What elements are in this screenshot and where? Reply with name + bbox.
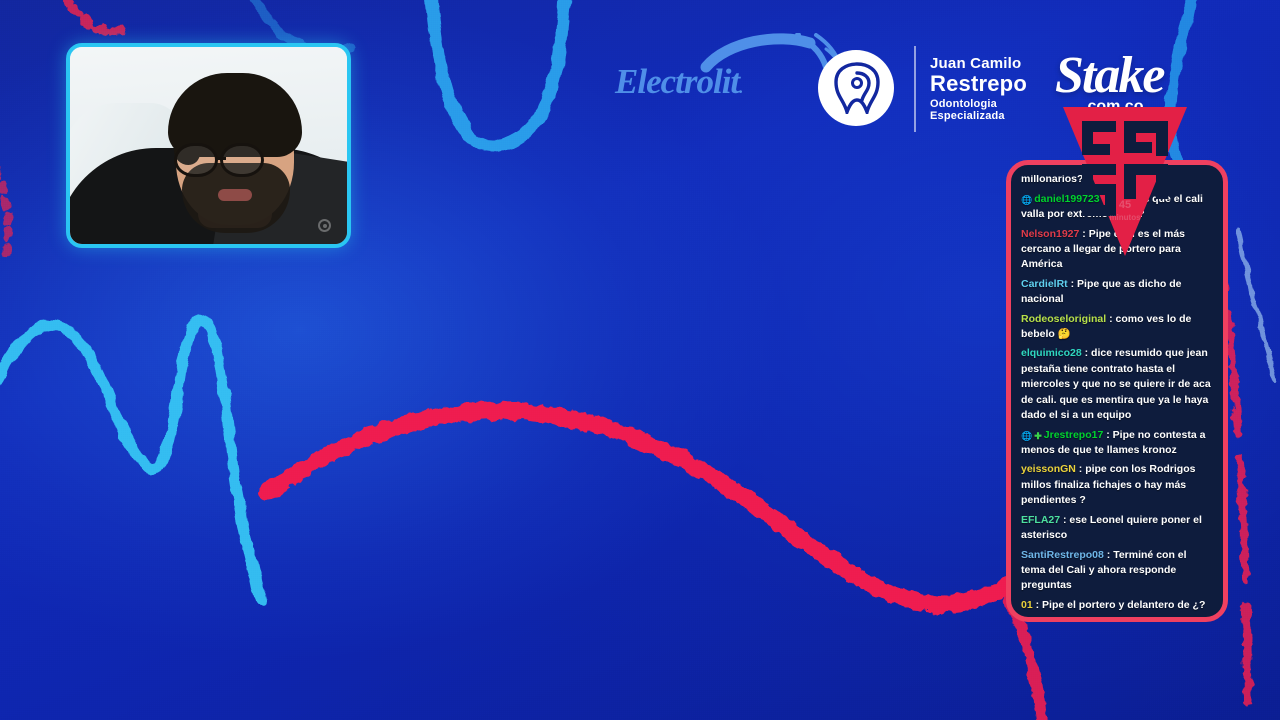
glasses-right-lens xyxy=(220,143,264,177)
chat-username[interactable]: Jrestrepo17 xyxy=(1044,429,1104,441)
streamer-webcam[interactable] xyxy=(66,43,351,248)
dental-line-1: Juan Camilo xyxy=(930,56,1027,72)
dental-clinic-badge xyxy=(818,50,894,126)
chat-message-text: : Pipe el portero y delantero de ¿? xyxy=(1033,599,1206,611)
dental-clinic-name: Juan Camilo Restrepo Odontologia Especia… xyxy=(930,56,1027,122)
chat-username[interactable]: Rodeoseloriginal xyxy=(1021,313,1106,325)
sponsor-divider xyxy=(914,46,916,132)
webcam-scene xyxy=(70,47,347,244)
chat-message: CardielRt : Pipe que as dicho de naciona… xyxy=(1021,277,1213,308)
stake-wordmark: Stake xyxy=(1055,47,1163,104)
chat-username[interactable]: EFLA27 xyxy=(1021,514,1060,526)
stake-logo: Stake .com.co xyxy=(1055,46,1163,105)
glasses-bridge xyxy=(216,157,226,160)
chat-username[interactable]: SantiRestrepo08 xyxy=(1021,549,1104,561)
chat-message: 🌐✚Jrestrepo17 : Pipe no contesta a menos… xyxy=(1021,428,1213,459)
glasses-left-lens xyxy=(174,143,218,177)
svg-text:minutos: minutos xyxy=(1109,213,1141,222)
chat-message: 01 : Pipe el portero y delantero de ¿? xyxy=(1021,598,1213,613)
svg-text:45: 45 xyxy=(1119,199,1131,211)
tooth-icon xyxy=(834,62,880,114)
chat-message: elquimico28 : dice resumido que jean pes… xyxy=(1021,346,1213,423)
chat-message: EFLA27 : ese Leonel quiere poner el aste… xyxy=(1021,513,1213,544)
chat-username[interactable]: yeissonGN xyxy=(1021,463,1076,475)
dental-line-4: Especializada xyxy=(930,111,1027,122)
chat-username[interactable]: elquimico28 xyxy=(1021,347,1082,359)
streamer-mouth xyxy=(218,189,252,201)
triangle-team-logo-watermark: 45 minutos xyxy=(1060,104,1190,259)
plus-badge-icon: ✚ xyxy=(1034,430,1042,443)
chat-username[interactable]: CardielRt xyxy=(1021,278,1068,290)
globe-badge-icon: 🌐 xyxy=(1021,194,1032,207)
camera-watermark-icon xyxy=(318,219,331,232)
dental-line-2: Restrepo xyxy=(930,73,1027,96)
chat-username[interactable]: 01 xyxy=(1021,599,1033,611)
globe-badge-icon: 🌐 xyxy=(1021,430,1032,443)
chat-message: yeissonGN : pipe con los Rodrigos millos… xyxy=(1021,462,1213,508)
sponsor-bar: Electrolit. Juan Camilo Restrepo Odontol… xyxy=(600,24,1200,114)
chat-message: Rodeoseloriginal : como ves lo de bebelo… xyxy=(1021,312,1213,343)
stream-overlay-stage: Electrolit. Juan Camilo Restrepo Odontol… xyxy=(0,0,1280,720)
chat-message: SantiRestrepo08 : Terminé con el tema de… xyxy=(1021,548,1213,594)
